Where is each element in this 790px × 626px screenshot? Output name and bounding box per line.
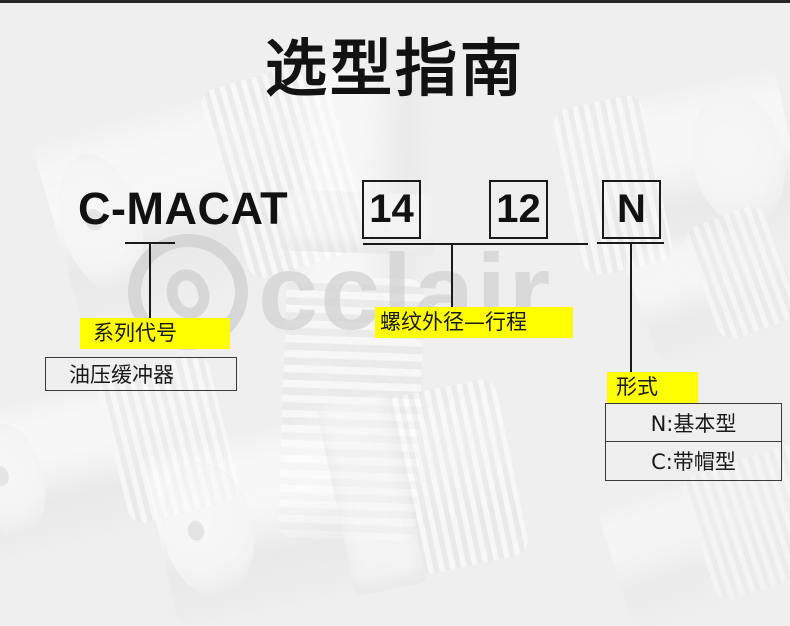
leader-line-series-vertical xyxy=(149,242,151,320)
diagram-content: 选型指南 C-MACAT 14 12 N 系列代号 油压缓冲器 螺纹外径—行程 … xyxy=(0,0,790,626)
selection-guide-page: cclair 选型指南 C-MACAT 14 12 N 系列代号 油压缓冲器 螺… xyxy=(0,0,790,626)
callout-label-dimension: 螺纹外径—行程 xyxy=(375,307,573,338)
callout-description-series: 油压缓冲器 xyxy=(45,357,237,391)
callout-label-type: 形式 xyxy=(607,372,698,403)
leader-line-dimension-horizontal xyxy=(363,243,588,245)
type-option-row-basic: N:基本型 xyxy=(606,404,781,442)
model-code-prefix: C-MACAT xyxy=(78,180,288,238)
page-title: 选型指南 xyxy=(0,33,790,105)
type-options-table: N:基本型 C:带帽型 xyxy=(605,403,782,481)
code-box-thread-diameter: 14 xyxy=(362,180,421,239)
leader-line-dimension-vertical xyxy=(451,243,453,307)
callout-label-series: 系列代号 xyxy=(80,318,230,349)
code-box-stroke: 12 xyxy=(489,180,548,239)
code-box-type: N xyxy=(602,180,661,239)
leader-line-type-vertical xyxy=(630,242,632,372)
type-option-row-capped: C:带帽型 xyxy=(606,442,781,480)
